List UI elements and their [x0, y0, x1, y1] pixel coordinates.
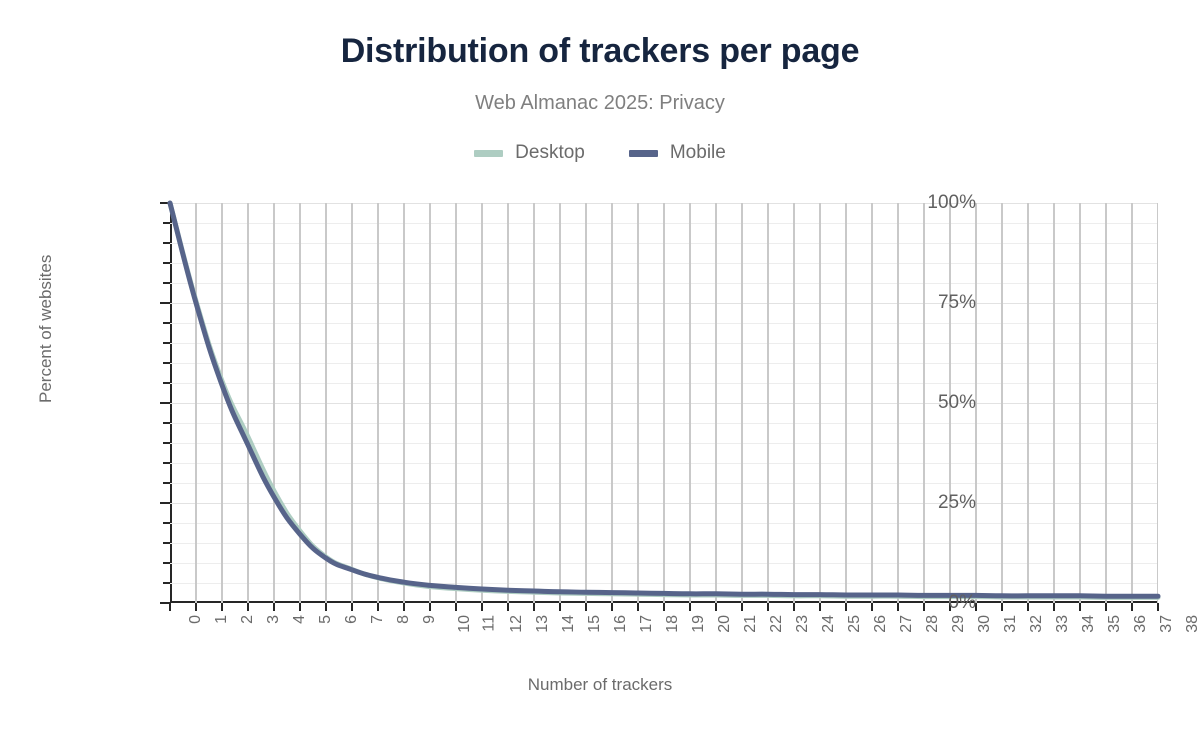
x-axis-tick-label: 30	[976, 615, 994, 633]
chart-container: Distribution of trackers per page Web Al…	[0, 0, 1200, 742]
x-axis-tick-label: 34	[1080, 615, 1098, 633]
x-axis-tick-label: 12	[508, 615, 526, 633]
x-axis-tick-label: 26	[872, 615, 890, 633]
y-axis-tick-mark	[163, 342, 170, 344]
x-axis-tick-label: 21	[742, 615, 760, 633]
x-axis-tick-label: 35	[1106, 615, 1124, 633]
x-axis-tick-mark	[923, 603, 925, 611]
legend-label: Mobile	[670, 142, 726, 164]
y-axis-tick-label: 25%	[938, 492, 976, 514]
x-axis-tick-mark	[325, 603, 327, 611]
x-axis-tick-mark	[1105, 603, 1107, 611]
y-axis-tick-mark	[163, 422, 170, 424]
y-axis-tick-mark	[163, 262, 170, 264]
x-axis-tick-label: 33	[1054, 615, 1072, 633]
y-axis-tick-mark	[160, 502, 170, 504]
y-axis-tick-mark	[163, 362, 170, 364]
y-axis-tick-mark	[163, 322, 170, 324]
y-axis-tick-mark	[163, 382, 170, 384]
x-axis-tick-label: 2	[239, 615, 257, 624]
x-axis-tick-mark	[871, 603, 873, 611]
x-axis-tick-mark	[1079, 603, 1081, 611]
y-axis-tick-mark	[163, 282, 170, 284]
y-axis-tick-mark	[163, 542, 170, 544]
x-axis-tick-label: 13	[534, 615, 552, 633]
x-axis-tick-mark	[273, 603, 275, 611]
x-axis-tick-mark	[455, 603, 457, 611]
x-axis-tick-label: 5	[317, 615, 335, 624]
x-axis-tick-label: 25	[846, 615, 864, 633]
chart-subtitle: Web Almanac 2025: Privacy	[0, 92, 1200, 115]
x-axis-tick-label: 17	[638, 615, 656, 633]
x-axis-tick-label: 8	[395, 615, 413, 624]
y-axis-tick-mark	[163, 222, 170, 224]
x-axis-tick-mark	[1131, 603, 1133, 611]
x-axis-tick-label: 10	[456, 615, 474, 633]
x-axis-tick-mark	[507, 603, 509, 611]
x-axis-tick-mark	[195, 603, 197, 611]
x-axis-tick-label: 20	[716, 615, 734, 633]
x-axis-tick-mark	[611, 603, 613, 611]
chart-title: Distribution of trackers per page	[0, 32, 1200, 71]
y-axis-tick-mark	[163, 442, 170, 444]
x-axis-tick-mark	[715, 603, 717, 611]
x-axis-tick-label: 3	[265, 615, 283, 624]
x-axis-tick-label: 28	[924, 615, 942, 633]
x-axis-tick-label: 4	[291, 615, 309, 624]
series-line-desktop	[170, 203, 1158, 597]
x-axis-tick-label: 0	[187, 615, 205, 624]
x-axis-tick-label: 27	[898, 615, 916, 633]
legend-swatch-icon	[629, 150, 658, 157]
x-axis-tick-label: 15	[586, 615, 604, 633]
legend-swatch-icon	[474, 150, 503, 157]
x-axis-tick-label: 31	[1002, 615, 1020, 633]
legend-label: Desktop	[515, 142, 585, 164]
x-axis-tick-mark	[403, 603, 405, 611]
x-axis-tick-label: 38	[1184, 615, 1200, 633]
x-axis-tick-mark	[1053, 603, 1055, 611]
x-axis-tick-label: 19	[690, 615, 708, 633]
x-axis-tick-label: 29	[950, 615, 968, 633]
plot-area: 0%25%50%75%100% 012345678910111213141516…	[170, 203, 1158, 603]
x-axis-tick-label: 11	[481, 615, 499, 632]
x-axis-tick-mark	[1001, 603, 1003, 611]
y-axis-tick-mark	[163, 562, 170, 564]
x-axis-tick-mark	[689, 603, 691, 611]
y-axis-tick-mark	[163, 482, 170, 484]
y-axis-title: Percent of websites	[36, 255, 56, 403]
x-axis-tick-mark	[481, 603, 483, 611]
x-axis-tick-mark	[299, 603, 301, 611]
y-axis-tick-mark	[163, 462, 170, 464]
x-axis-tick-mark	[559, 603, 561, 611]
x-axis-tick-mark	[377, 603, 379, 611]
x-axis-tick-label: 24	[820, 615, 838, 633]
x-axis-tick-label: 14	[560, 615, 578, 633]
x-axis-tick-mark	[1027, 603, 1029, 611]
x-axis-tick-label: 9	[421, 615, 439, 624]
y-axis-tick-mark	[160, 302, 170, 304]
x-axis-tick-mark	[663, 603, 665, 611]
y-axis-tick-mark	[163, 522, 170, 524]
x-axis-tick-label: 32	[1028, 615, 1046, 633]
x-axis-title: Number of trackers	[0, 675, 1200, 695]
x-axis-tick-mark	[351, 603, 353, 611]
x-axis-tick-mark	[897, 603, 899, 611]
x-axis-tick-label: 22	[768, 615, 786, 633]
x-axis-tick-label: 1	[213, 615, 231, 624]
x-axis-tick-mark	[793, 603, 795, 611]
series-lines	[170, 203, 1158, 603]
x-axis-tick-mark	[585, 603, 587, 611]
legend-item-mobile[interactable]: Mobile	[629, 142, 726, 164]
x-axis-tick-mark	[637, 603, 639, 611]
y-axis-tick-label: 75%	[938, 292, 976, 314]
x-axis-tick-label: 7	[369, 615, 387, 624]
x-axis-tick-mark	[429, 603, 431, 611]
x-axis-tick-mark	[819, 603, 821, 611]
y-axis-tick-mark	[163, 582, 170, 584]
legend-item-desktop[interactable]: Desktop	[474, 142, 585, 164]
y-axis-tick-label: 100%	[927, 192, 976, 214]
x-axis-tick-label: 16	[612, 615, 630, 633]
x-axis-tick-mark	[247, 603, 249, 611]
y-axis-tick-mark	[160, 402, 170, 404]
x-axis-tick-label: 18	[664, 615, 682, 633]
x-axis-tick-label: 23	[794, 615, 812, 633]
x-axis-tick-mark	[221, 603, 223, 611]
chart-legend: DesktopMobile	[0, 142, 1200, 164]
y-axis-tick-label: 0%	[949, 592, 976, 614]
series-line-mobile	[170, 203, 1158, 596]
x-axis-tick-mark	[533, 603, 535, 611]
x-axis-tick-mark	[741, 603, 743, 611]
x-axis-tick-label: 6	[343, 615, 361, 624]
x-axis-tick-mark	[169, 603, 171, 611]
x-axis-tick-mark	[1157, 603, 1159, 611]
x-axis-tick-label: 36	[1132, 615, 1150, 633]
y-axis-tick-label: 50%	[938, 392, 976, 414]
x-axis-tick-mark	[767, 603, 769, 611]
x-axis-tick-mark	[845, 603, 847, 611]
x-axis-tick-label: 37	[1158, 615, 1176, 633]
y-axis-tick-mark	[163, 242, 170, 244]
